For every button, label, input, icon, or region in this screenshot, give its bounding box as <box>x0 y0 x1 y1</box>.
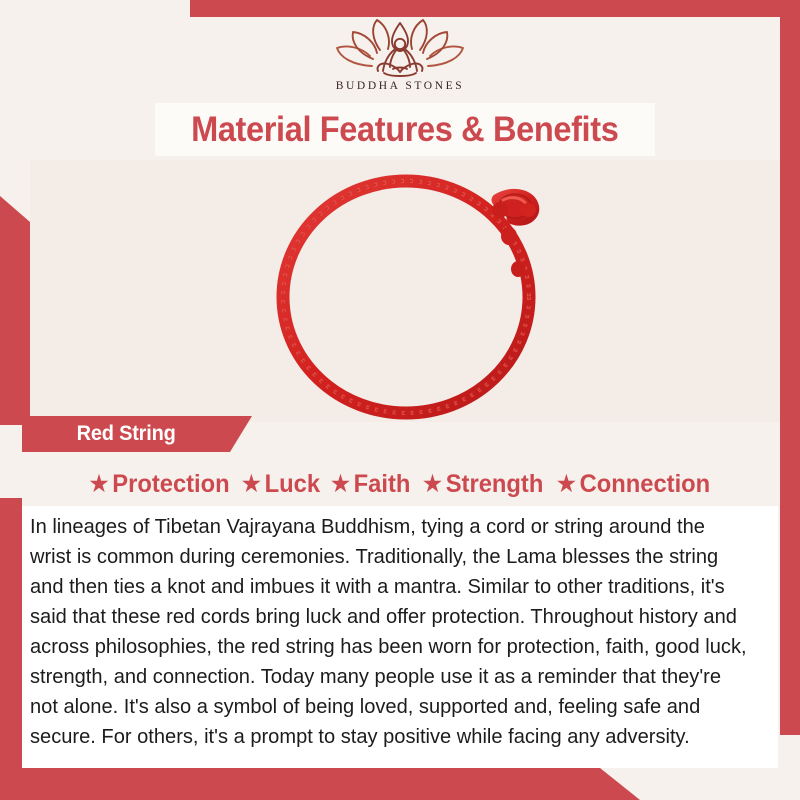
benefit-label: Strength <box>445 470 543 499</box>
product-label-text: Red String <box>77 422 176 446</box>
benefit-connection: ★ Connection <box>557 470 710 499</box>
left-red-strip-lower <box>0 498 22 770</box>
star-icon: ★ <box>557 473 576 495</box>
infographic-page: BUDDHA STONES Material Features & Benefi… <box>0 0 800 800</box>
benefit-protection: ★ Protection <box>89 470 229 499</box>
lotus-meditation-icon <box>332 17 468 79</box>
benefit-label: Connection <box>580 470 711 499</box>
star-icon: ★ <box>89 473 108 495</box>
top-red-band <box>190 0 800 17</box>
benefit-label: Protection <box>112 470 229 499</box>
benefit-label: Faith <box>354 470 411 499</box>
star-icon: ★ <box>242 473 261 495</box>
benefits-row: ★ Protection ★ Luck ★ Faith ★ Strength ★… <box>22 463 778 505</box>
benefit-luck: ★ Luck <box>242 470 320 499</box>
red-braided-cord-bracelet <box>260 164 560 424</box>
title-panel: Material Features & Benefits <box>155 103 655 156</box>
brand-name: BUDDHA STONES <box>336 80 464 92</box>
product-label-ribbon: Red String <box>22 416 252 452</box>
description-text: In lineages of Tibetan Vajrayana Buddhis… <box>30 512 750 752</box>
bottom-red-band <box>0 768 640 800</box>
description-panel: In lineages of Tibetan Vajrayana Buddhis… <box>22 506 778 768</box>
brand-logo: BUDDHA STONES <box>0 17 800 103</box>
benefit-faith: ★ Faith <box>331 470 410 499</box>
benefit-strength: ★ Strength <box>423 470 543 499</box>
star-icon: ★ <box>331 473 350 495</box>
left-red-strip-upper <box>0 196 30 425</box>
benefit-label: Luck <box>265 470 320 499</box>
page-title: Material Features & Benefits <box>191 110 618 150</box>
star-icon: ★ <box>423 473 442 495</box>
right-red-strip <box>780 0 800 735</box>
